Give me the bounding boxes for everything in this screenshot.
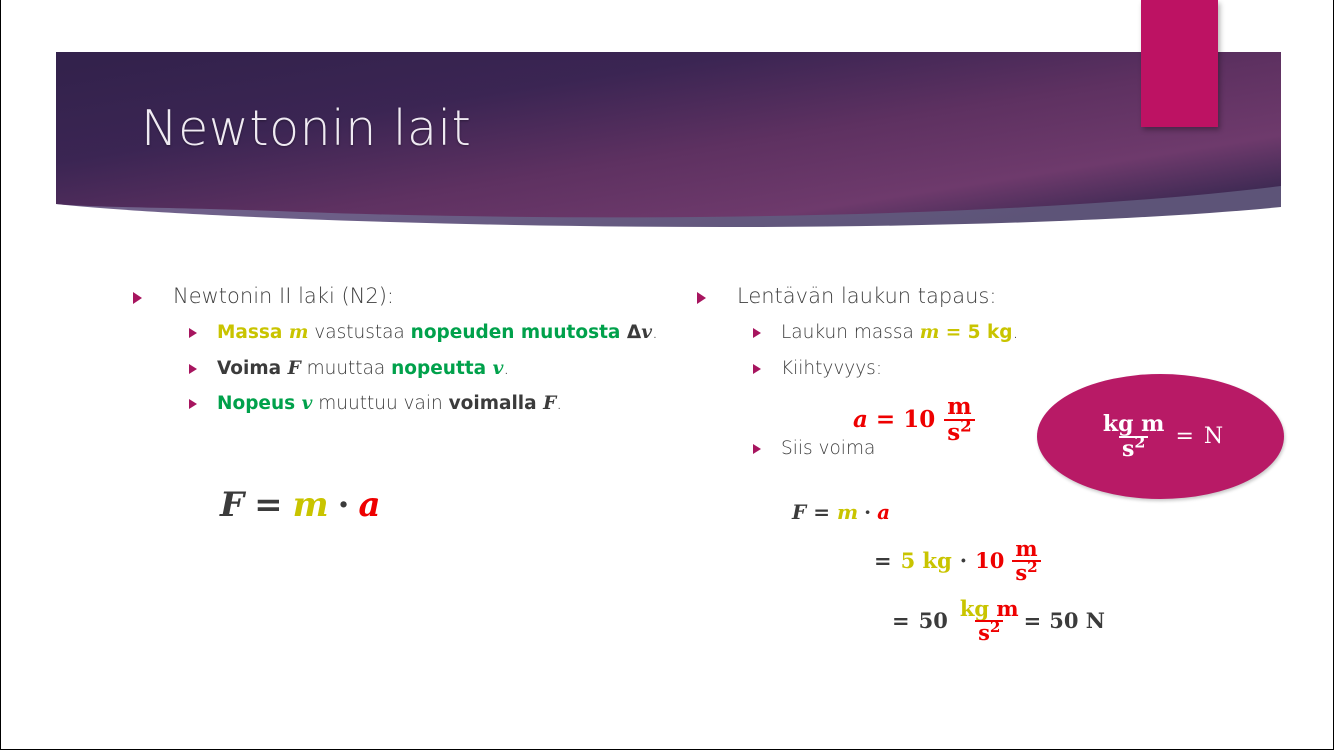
- fraction-denominator: s2: [1119, 436, 1148, 460]
- fraction-numerator: m: [1012, 538, 1040, 559]
- bullet-label: Massa m vastustaa nopeuden muutosta Δv.: [217, 321, 658, 346]
- fraction-denominator: s2: [975, 620, 1003, 643]
- exponent-2: 2: [1134, 433, 1145, 452]
- unit-kg: kg: [960, 596, 989, 621]
- bullet-triangle-icon: [753, 364, 761, 374]
- unit-s: s: [978, 620, 990, 645]
- equation-newton-unit: kg m s2 = N: [1098, 413, 1223, 461]
- fraction-kgm-per-s2: kg m s2: [1100, 413, 1168, 461]
- unit-newton: N: [1204, 424, 1223, 449]
- symbol-a: a: [358, 485, 380, 525]
- text-voima: Voima: [217, 358, 288, 379]
- bullet-triangle-icon: [189, 364, 197, 374]
- bullet-label: Kiihtyvyys:: [781, 357, 882, 382]
- symbol-dot: ·: [960, 548, 967, 573]
- text-muuttaa: muuttaa: [301, 358, 391, 379]
- symbol-m: m: [920, 322, 940, 343]
- value-mass: 5 kg: [901, 548, 952, 573]
- bullet-triangle-icon: [133, 292, 142, 304]
- text-nopeus: Nopeus: [217, 393, 302, 414]
- fraction-m-per-s2: m s2: [1012, 538, 1040, 584]
- symbol-equals: =: [813, 500, 830, 524]
- bullet-triangle-icon: [189, 399, 197, 409]
- unit-m: m: [996, 596, 1018, 621]
- unit-callout-ellipse: kg m s2 = N: [1037, 374, 1284, 499]
- bullet-nopeus-muuttuu-voimalla: Nopeus v muuttuu vain voimalla F.: [189, 392, 688, 417]
- value-acceleration: 10: [975, 548, 1004, 573]
- bullet-lentavan-laukun-tapaus: Lentävän laukun tapaus:: [697, 283, 1117, 309]
- unit-kg: kg: [1103, 411, 1134, 437]
- bullet-voima-muuttaa-nopeutta: Voima F muuttaa nopeutta v.: [189, 357, 688, 382]
- symbol-m: m: [289, 322, 309, 343]
- equation-newton-second-law: F = m · a: [220, 485, 381, 525]
- bullet-label: Nopeus v muuttuu vain voimalla F.: [217, 392, 562, 417]
- fraction-denominator: s2: [1012, 560, 1040, 583]
- equation-force-line1: F = m · a: [792, 500, 890, 524]
- unit-s: s: [1122, 436, 1134, 462]
- equation-acceleration: a = 10 m s2: [853, 395, 977, 445]
- banner-shape: [1, 0, 1334, 250]
- equation-force-line3: = 50 kg m s2 = 50 N: [892, 598, 1105, 644]
- text-massa: Massa: [217, 322, 289, 343]
- bullet-label: Lentävän laukun tapaus:: [737, 283, 996, 309]
- bullet-triangle-icon: [189, 328, 197, 338]
- text-nopeutta: nopeutta: [391, 358, 492, 379]
- text-vastustaa: vastustaa: [308, 322, 410, 343]
- text-period: .: [556, 393, 562, 414]
- text-period: .: [652, 322, 658, 343]
- bullet-label: Voima F muuttaa nopeutta v.: [217, 357, 509, 382]
- symbol-equals: =: [876, 406, 895, 433]
- symbol-m: m: [837, 500, 858, 524]
- symbol-a: a: [853, 406, 868, 433]
- symbol-dot: ·: [338, 485, 350, 525]
- text-nopeuden-muutosta: nopeuden muutosta: [411, 322, 627, 343]
- bullet-triangle-icon: [697, 292, 706, 304]
- page-title: Newtonin lait: [141, 104, 471, 153]
- text-voimalla: voimalla: [449, 393, 543, 414]
- value-acceleration: 10: [903, 406, 935, 433]
- bullet-laukun-massa: Laukun massa m = 5 kg.: [753, 321, 1117, 346]
- symbol-equals: =: [254, 485, 283, 525]
- bullet-massa-vastustaa: Massa m vastustaa nopeuden muutosta Δv.: [189, 321, 688, 346]
- symbol-equals-2: =: [1024, 608, 1042, 633]
- bullet-label: Newtonin II laki (N2):: [173, 283, 394, 309]
- bullet-label: Laukun massa m = 5 kg.: [781, 321, 1018, 346]
- fraction-numerator: kg m: [957, 598, 1022, 619]
- text-muuttuu-vain: muuttuu vain: [312, 393, 448, 414]
- exponent-2: 2: [1027, 558, 1038, 576]
- fraction-numerator: kg m: [1100, 413, 1168, 435]
- symbol-v: v: [302, 393, 313, 414]
- unit-s: s: [1015, 560, 1027, 585]
- fraction-denominator: s2: [944, 419, 974, 444]
- symbol-F: F: [288, 358, 301, 379]
- symbol-v: v: [641, 322, 652, 343]
- bullet-kiihtyvyys: Kiihtyvyys:: [753, 357, 1117, 382]
- value-mass: 5 kg: [968, 322, 1013, 343]
- symbol-equals: =: [874, 548, 892, 573]
- pink-accent-tab: [1141, 0, 1218, 127]
- symbol-a: a: [877, 500, 890, 524]
- bullet-triangle-icon: [753, 444, 761, 454]
- fraction-kgm-per-s2: kg m s2: [957, 598, 1022, 644]
- exponent-2: 2: [990, 618, 1001, 636]
- left-content-column: Newtonin II laki (N2): Massa m vastustaa…: [133, 283, 688, 428]
- text-period: .: [503, 358, 509, 379]
- symbol-equals: =: [939, 322, 967, 343]
- symbol-F: F: [543, 393, 556, 414]
- symbol-delta: Δ: [627, 322, 641, 343]
- symbol-m: m: [293, 485, 329, 525]
- symbol-F: F: [220, 485, 244, 525]
- text-laukun-massa: Laukun massa: [781, 322, 920, 343]
- symbol-F: F: [792, 500, 806, 524]
- equation-force-line2: = 5 kg · 10 m s2: [874, 538, 1043, 584]
- slide-canvas: Newtonin lait Newtonin II laki (N2): Mas…: [0, 0, 1334, 750]
- bullet-triangle-icon: [753, 328, 761, 338]
- text-period: .: [1013, 322, 1019, 343]
- value-force: 50: [919, 608, 948, 633]
- fraction-m-per-s2: m s2: [944, 395, 974, 445]
- slide-header-banner: Newtonin lait: [1, 0, 1334, 250]
- unit-s: s: [947, 419, 960, 446]
- symbol-v: v: [493, 358, 504, 379]
- symbol-dot: ·: [864, 500, 871, 524]
- value-result: 50 N: [1049, 608, 1105, 633]
- symbol-equals: =: [1175, 424, 1193, 449]
- exponent-2: 2: [960, 416, 972, 436]
- symbol-equals: =: [892, 608, 910, 633]
- bullet-newtonin-ii-laki: Newtonin II laki (N2):: [133, 283, 688, 309]
